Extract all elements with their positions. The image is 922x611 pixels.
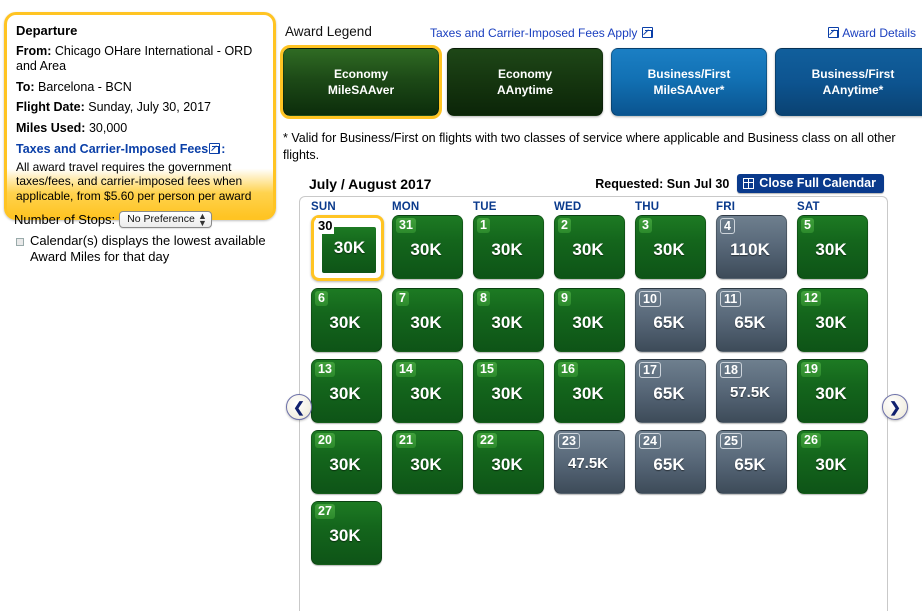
day-number: 17: [639, 362, 661, 378]
calendar-cell-slot: 27 30K: [311, 501, 392, 565]
day-miles: 65K: [636, 455, 702, 475]
calendar-cell-slot: 11 65K: [716, 288, 797, 352]
day-miles: 30K: [312, 384, 378, 404]
day-miles: 30K: [555, 240, 621, 260]
stepper-arrows-icon: ▲▼: [198, 213, 207, 227]
award-legend-heading: Award Legend: [285, 24, 372, 39]
day-number: 4: [720, 218, 735, 234]
day-miles: 30K: [474, 455, 540, 475]
calendar-day-12[interactable]: 12 30K: [797, 288, 868, 352]
departure-title: Departure: [16, 23, 264, 38]
legend-swatch-icon: [16, 238, 24, 246]
departure-to-label: To:: [16, 80, 35, 94]
calendar-week-row: 27 30K: [300, 501, 887, 565]
calendar-day-6[interactable]: 6 30K: [311, 288, 382, 352]
day-miles: 30K: [312, 313, 378, 333]
legend-business-first-aanytime[interactable]: Business/First AAnytime*: [775, 48, 922, 116]
calendar-cell-slot: 13 30K: [311, 359, 392, 423]
chevron-left-icon: ❮: [293, 399, 305, 416]
day-miles: 30K: [312, 526, 378, 546]
calendar-lowest-miles-note: Calendar(s) displays the lowest availabl…: [16, 233, 266, 266]
calendar-cell-slot: 5 30K: [797, 215, 878, 281]
day-header-fri: FRI: [716, 201, 797, 213]
day-number: 26: [801, 433, 821, 448]
legend-economy-milesaaver[interactable]: Economy MileSAAver: [283, 48, 439, 116]
day-number: 15: [477, 362, 497, 377]
calendar-day-10[interactable]: 10 65K: [635, 288, 706, 352]
day-miles: 30K: [393, 240, 459, 260]
calendar-cell-slot: 20 30K: [311, 430, 392, 494]
calendar-cell-slot: 10 65K: [635, 288, 716, 352]
day-number: 18: [720, 362, 742, 378]
day-number: 3: [639, 218, 652, 233]
calendar-cell-slot: 25 65K: [716, 430, 797, 494]
day-miles: 30K: [555, 313, 621, 333]
calendar-day-9[interactable]: 9 30K: [554, 288, 625, 352]
calendar-month-title: July / August 2017: [309, 176, 431, 192]
award-legend-buttons: Economy MileSAAver Economy AAnytime Busi…: [283, 48, 922, 116]
calendar-day-19[interactable]: 19 30K: [797, 359, 868, 423]
calendar-day-11[interactable]: 11 65K: [716, 288, 787, 352]
legend-economy-milesaaver-line2: MileSAAver: [328, 82, 394, 98]
day-miles: 30K: [798, 240, 864, 260]
selected-day-inner: 30 30K: [314, 218, 381, 278]
day-miles: 30K: [798, 313, 864, 333]
departure-from-row: From: Chicago OHare International - ORD …: [16, 44, 264, 74]
calendar-cell-slot: 9 30K: [554, 288, 635, 352]
taxes-and-fees-link-suffix: :: [221, 142, 225, 156]
day-miles: 30K: [474, 313, 540, 333]
day-header-thu: THU: [635, 201, 716, 213]
legend-business-first-aanytime-line1: Business/First: [812, 66, 895, 82]
calendar-cell-slot: 26 30K: [797, 430, 878, 494]
award-details-link[interactable]: Award Details: [827, 26, 916, 40]
calendar-lowest-miles-note-text: Calendar(s) displays the lowest availabl…: [30, 233, 266, 266]
day-number: 14: [396, 362, 416, 377]
calendar-day-5[interactable]: 5 30K: [797, 215, 868, 279]
calendar-cell-slot: 7 30K: [392, 288, 473, 352]
close-full-calendar-label: Close Full Calendar: [759, 176, 876, 190]
departure-date-row: Flight Date: Sunday, July 30, 2017: [16, 100, 264, 115]
calendar-header-right: Requested: Sun Jul 30 Close Full Calenda…: [595, 174, 884, 193]
day-header-sat: SAT: [797, 201, 878, 213]
calendar-day-15[interactable]: 15 30K: [473, 359, 544, 423]
number-of-stops-label: Number of Stops:: [14, 212, 115, 227]
calendar-day-1[interactable]: 1 30K: [473, 215, 544, 279]
calendar-requested-date: Requested: Sun Jul 30: [595, 177, 729, 191]
legend-business-first-milesaaver-line2: MileSAAver*: [654, 82, 725, 98]
day-number: 5: [801, 218, 814, 233]
calendar-day-3[interactable]: 3 30K: [635, 215, 706, 279]
calendar-cell-slot: 3 30K: [635, 215, 716, 281]
departure-date-value: Sunday, July 30, 2017: [88, 100, 211, 114]
calendar-day-30-selected[interactable]: 30 30K: [311, 215, 384, 281]
calendar-header: July / August 2017 Requested: Sun Jul 30…: [309, 174, 884, 193]
calendar-day-18[interactable]: 18 57.5K: [716, 359, 787, 423]
calendar-cell-slot: 6 30K: [311, 288, 392, 352]
calendar-cell-slot: 30 30K: [311, 215, 392, 281]
calendar-cell-slot: 1 30K: [473, 215, 554, 281]
calendar-day-22[interactable]: 22 30K: [473, 430, 544, 494]
award-details-text: Award Details: [842, 26, 916, 40]
grid-icon: [743, 178, 754, 189]
calendar-week-row: 13 30K 14 30K 15 30K 16 30K: [300, 359, 887, 423]
day-miles: 30K: [393, 455, 459, 475]
calendar-day-7[interactable]: 7 30K: [392, 288, 463, 352]
day-number: 8: [477, 291, 490, 306]
calendar-week-row: 20 30K 21 30K 22 30K 23 47.5K: [300, 430, 887, 494]
calendar-cell-slot: 21 30K: [392, 430, 473, 494]
day-number: 21: [396, 433, 416, 448]
calendar-day-25[interactable]: 25 65K: [716, 430, 787, 494]
day-miles: 30K: [555, 384, 621, 404]
day-miles: 65K: [636, 384, 702, 404]
legend-economy-milesaaver-line1: Economy: [334, 66, 388, 82]
calendar-cell-slot: 23 47.5K: [554, 430, 635, 494]
calendar-day-31[interactable]: 31 30K: [392, 215, 463, 279]
day-number: 30: [316, 218, 334, 234]
day-number: 24: [639, 433, 661, 449]
day-miles: 30K: [798, 384, 864, 404]
departure-from-label: From:: [16, 44, 51, 58]
calendar-day-23[interactable]: 23 47.5K: [554, 430, 625, 494]
legend-business-first-milesaaver[interactable]: Business/First MileSAAver*: [611, 48, 767, 116]
day-header-mon: MON: [392, 201, 473, 213]
day-number: 9: [558, 291, 571, 306]
calendar-cell-slot: 31 30K: [392, 215, 473, 281]
day-header-sun: SUN: [311, 201, 392, 213]
day-miles: 110K: [717, 240, 783, 260]
day-number: 12: [801, 291, 821, 306]
calendar-cell-slot: 17 65K: [635, 359, 716, 423]
number-of-stops-row: Number of Stops: No Preference ▲▼: [14, 211, 212, 228]
external-link-icon: [209, 143, 220, 154]
calendar-week-row: 30 30K 31 30K 1 30K 2: [300, 215, 887, 281]
day-number: 11: [720, 291, 741, 307]
legend-economy-aanytime-line1: Economy: [498, 66, 552, 82]
external-link-icon: [642, 27, 653, 38]
calendar-cell-slot: 18 57.5K: [716, 359, 797, 423]
legend-business-first-aanytime-line2: AAnytime*: [823, 82, 884, 98]
day-miles: 30K: [636, 240, 702, 260]
day-miles: 30K: [393, 384, 459, 404]
taxes-and-fees-link-text: Taxes and Carrier-Imposed Fees: [16, 142, 208, 156]
day-number: 16: [558, 362, 578, 377]
departure-date-label: Flight Date:: [16, 100, 85, 114]
calendar-cell-slot: 15 30K: [473, 359, 554, 423]
calendar-panel: SUN MON TUE WED THU FRI SAT 30 30K: [299, 196, 888, 611]
day-number: 25: [720, 433, 742, 449]
departure-to-value: Barcelona - BCN: [38, 80, 132, 94]
calendar-day-14[interactable]: 14 30K: [392, 359, 463, 423]
calendar-cell-slot: 8 30K: [473, 288, 554, 352]
day-number: 10: [639, 291, 661, 307]
external-link-icon: [828, 27, 839, 38]
day-miles: 65K: [717, 455, 783, 475]
taxes-and-fees-note: All award travel requires the government…: [16, 160, 264, 203]
calendar-cell-slot: 14 30K: [392, 359, 473, 423]
day-miles: 30K: [474, 240, 540, 260]
day-number: 22: [477, 433, 497, 448]
calendar-prev-button[interactable]: ❮: [286, 394, 312, 420]
day-number: 31: [396, 218, 416, 233]
day-miles: 65K: [636, 313, 702, 333]
day-number: 19: [801, 362, 821, 377]
calendar-cell-slot: 16 30K: [554, 359, 635, 423]
calendar-cell-slot: 12 30K: [797, 288, 878, 352]
calendar-cell-slot: 22 30K: [473, 430, 554, 494]
calendar-week-row: 6 30K 7 30K 8 30K 9 30K: [300, 288, 887, 352]
day-miles: 47.5K: [555, 455, 621, 472]
day-number: 20: [315, 433, 335, 448]
day-number: 13: [315, 362, 335, 377]
calendar-day-headers: SUN MON TUE WED THU FRI SAT: [300, 197, 887, 215]
departure-miles-label: Miles Used:: [16, 121, 85, 135]
calendar-cell-slot: 24 65K: [635, 430, 716, 494]
departure-summary-panel: Departure From: Chicago OHare Internatio…: [4, 12, 276, 220]
departure-miles-row: Miles Used: 30,000: [16, 121, 264, 136]
legend-economy-aanytime-line2: AAnytime: [497, 82, 553, 98]
day-miles: 65K: [717, 313, 783, 333]
number-of-stops-value: No Preference: [127, 213, 195, 225]
calendar-day-2[interactable]: 2 30K: [554, 215, 625, 279]
calendar-day-4[interactable]: 4 110K: [716, 215, 787, 279]
departure-miles-value: 30,000: [89, 121, 127, 135]
day-number: 23: [558, 433, 580, 449]
chevron-right-icon: ❯: [889, 399, 901, 416]
calendar-day-24[interactable]: 24 65K: [635, 430, 706, 494]
day-miles: 30K: [474, 384, 540, 404]
calendar-next-button[interactable]: ❯: [882, 394, 908, 420]
day-miles: 30K: [312, 455, 378, 475]
taxes-and-fees-link[interactable]: Taxes and Carrier-Imposed Fees:: [16, 142, 264, 156]
calendar-day-20[interactable]: 20 30K: [311, 430, 382, 494]
calendar-day-13[interactable]: 13 30K: [311, 359, 382, 423]
day-header-tue: TUE: [473, 201, 554, 213]
calendar-day-21[interactable]: 21 30K: [392, 430, 463, 494]
calendar-day-16[interactable]: 16 30K: [554, 359, 625, 423]
day-miles: 57.5K: [717, 384, 783, 401]
number-of-stops-select[interactable]: No Preference ▲▼: [119, 211, 212, 228]
calendar-cell-slot: 4 110K: [716, 215, 797, 281]
legend-business-first-milesaaver-line1: Business/First: [648, 66, 731, 82]
day-miles: 30K: [320, 238, 379, 258]
legend-footnote: * Valid for Business/First on flights wi…: [283, 130, 916, 164]
legend-economy-aanytime[interactable]: Economy AAnytime: [447, 48, 603, 116]
day-header-wed: WED: [554, 201, 635, 213]
calendar-cell-slot: 2 30K: [554, 215, 635, 281]
calendar-day-27[interactable]: 27 30K: [311, 501, 382, 565]
close-full-calendar-button[interactable]: Close Full Calendar: [737, 174, 884, 193]
day-number: 27: [315, 504, 335, 519]
taxes-and-fees-apply-link[interactable]: Taxes and Carrier-Imposed Fees Apply: [430, 26, 654, 40]
calendar-day-8[interactable]: 8 30K: [473, 288, 544, 352]
day-number: 1: [477, 218, 490, 233]
calendar-day-17[interactable]: 17 65K: [635, 359, 706, 423]
day-number: 6: [315, 291, 328, 306]
day-number: 2: [558, 218, 571, 233]
calendar-cell-slot: 19 30K: [797, 359, 878, 423]
departure-to-row: To: Barcelona - BCN: [16, 80, 264, 95]
departure-from-value: Chicago OHare International - ORD and Ar…: [16, 44, 252, 73]
day-miles: 30K: [393, 313, 459, 333]
day-number: 7: [396, 291, 409, 306]
day-miles: 30K: [798, 455, 864, 475]
taxes-and-fees-apply-text: Taxes and Carrier-Imposed Fees Apply: [430, 26, 637, 40]
calendar-day-26[interactable]: 26 30K: [797, 430, 868, 494]
